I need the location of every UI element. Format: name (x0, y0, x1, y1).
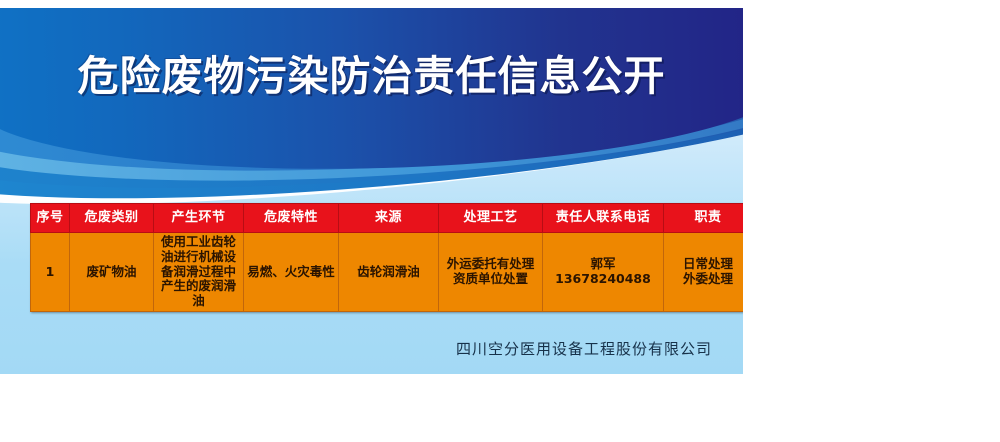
information-disclosure-poster: 危险废物污染防治责任信息公开 序号 危废类别 产生环节 危废特性 来源 处理工艺… (0, 8, 743, 374)
company-name: 四川空分医用设备工程股份有限公司 (0, 338, 712, 359)
page-title: 危险废物污染防治责任信息公开 (0, 56, 743, 97)
column-header-contact: 责任人联系电话 (543, 204, 664, 233)
column-header-index: 序号 (31, 204, 70, 233)
duty-line-1: 日常处理 (666, 257, 743, 272)
contact-phone-number: 13678240488 (545, 272, 661, 287)
cell-treatment-process: 外运委托有处理资质单位处置 (439, 233, 543, 312)
column-header-duty: 职责 (664, 204, 744, 233)
column-header-source: 来源 (339, 204, 439, 233)
column-header-treatment: 处理工艺 (439, 204, 543, 233)
table-row: 1 废矿物油 使用工业齿轮油进行机械设备润滑过程中产生的废润滑油 易燃、火灾毒性… (31, 233, 744, 312)
cell-category: 废矿物油 (70, 233, 154, 312)
hazardous-waste-table: 序号 危废类别 产生环节 危废特性 来源 处理工艺 责任人联系电话 职责 1 废… (30, 203, 743, 312)
cell-contact: 郭军 13678240488 (543, 233, 664, 312)
cell-hazard-property: 易燃、火灾毒性 (244, 233, 339, 312)
contact-person-name: 郭军 (545, 257, 661, 272)
column-header-stage: 产生环节 (154, 204, 244, 233)
duty-line-2: 外委处理 (666, 272, 743, 287)
cell-source: 齿轮润滑油 (339, 233, 439, 312)
table-header-row: 序号 危废类别 产生环节 危废特性 来源 处理工艺 责任人联系电话 职责 (31, 204, 744, 233)
cell-generation-stage: 使用工业齿轮油进行机械设备润滑过程中产生的废润滑油 (154, 233, 244, 312)
cell-duty: 日常处理 外委处理 (664, 233, 744, 312)
column-header-property: 危废特性 (244, 204, 339, 233)
cell-index: 1 (31, 233, 70, 312)
column-header-category: 危废类别 (70, 204, 154, 233)
